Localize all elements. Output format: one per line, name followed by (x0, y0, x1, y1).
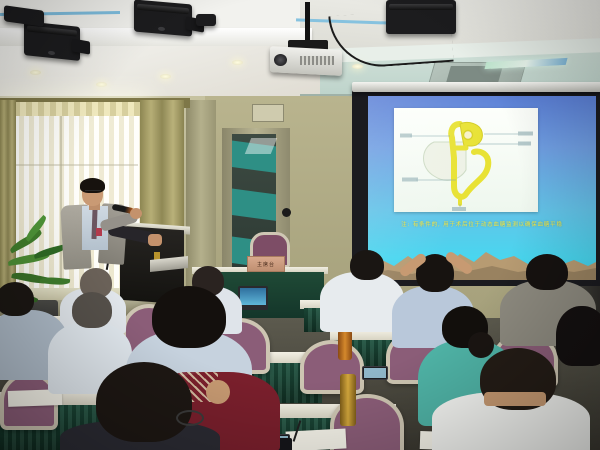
downlight-icon (96, 82, 107, 87)
name-card: 主席台 (247, 256, 285, 272)
attendee-hand (206, 380, 230, 404)
thermos-flask-gold (340, 374, 356, 426)
presenter-glasses-icon (85, 190, 101, 195)
drape-left (0, 100, 16, 298)
downlight-icon (160, 74, 171, 79)
smartphone[interactable] (362, 366, 388, 380)
curtain-pleat-header (2, 102, 144, 116)
tablet-monitor[interactable] (238, 286, 268, 310)
attendee-neck (484, 392, 546, 406)
projection-screen: 注: 有条件的, 用于术后位于动态血糖监测以确保血糖平稳 (368, 96, 596, 280)
downlight-icon (232, 60, 243, 65)
ceiling-spot-small (196, 14, 216, 26)
screen-housing (352, 82, 600, 92)
presenter-hand-left (130, 208, 142, 219)
screen-glare (368, 96, 596, 280)
downlight-icon (30, 70, 41, 75)
name-card-text: 主席台 (257, 261, 275, 268)
ceiling-speaker-center (134, 0, 192, 37)
attendee-hair-bun (468, 332, 494, 358)
attendee-glasses (176, 410, 204, 426)
projector-lens-icon (274, 54, 287, 66)
conference-room-photo: 注: 有条件的, 用于术后位于动态血糖监测以确保血糖平稳 主席台 (0, 0, 600, 450)
projector-vent (300, 56, 334, 65)
thermos-flask-amber (338, 330, 352, 360)
window-mullion (8, 164, 138, 166)
window-mullion (60, 108, 62, 284)
door-teal-chevron (232, 188, 276, 222)
wall-sign (252, 104, 284, 122)
presenter-hand-right (148, 234, 162, 246)
door-handle-icon[interactable] (282, 208, 291, 217)
downlight-icon (352, 64, 363, 69)
projector-mount-pole (305, 2, 310, 44)
